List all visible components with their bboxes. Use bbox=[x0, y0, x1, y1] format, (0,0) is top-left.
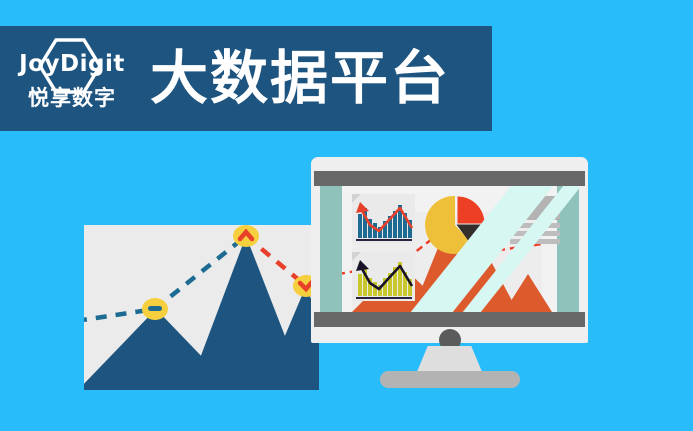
data-point-marker bbox=[233, 225, 259, 247]
placeholder-line bbox=[510, 239, 560, 244]
data-point-marker bbox=[142, 298, 168, 320]
page-fold-icon bbox=[352, 194, 361, 203]
yellow-bar-chart-svg bbox=[352, 252, 415, 301]
pie-chart-widget[interactable] bbox=[424, 194, 486, 256]
logo-wordmark: JoyDigit bbox=[19, 53, 125, 76]
screen-side-band-left bbox=[320, 186, 342, 312]
monitor-top-bezel bbox=[314, 171, 585, 186]
page-title: 大数据平台 bbox=[150, 50, 450, 108]
monitor-stand-base bbox=[380, 371, 520, 388]
placeholder-line bbox=[510, 223, 560, 228]
logo-subtitle: 悦享数字 bbox=[28, 88, 116, 109]
panel-chart-svg bbox=[84, 225, 319, 390]
screen-side-band-right bbox=[557, 186, 579, 312]
header-banner: JoyDigit 悦享数字 大数据平台 bbox=[0, 26, 492, 131]
blue-bar-chart-svg bbox=[352, 194, 415, 243]
text-placeholder-widget[interactable] bbox=[510, 196, 560, 244]
placeholder-line bbox=[510, 231, 560, 236]
up-right-arrow-icon bbox=[356, 202, 369, 213]
brand-logo: JoyDigit 悦享数字 bbox=[16, 36, 128, 122]
bar-chart-card-yellow[interactable] bbox=[352, 252, 415, 301]
placeholder-block bbox=[510, 196, 560, 220]
desktop-monitor bbox=[311, 157, 588, 387]
monitor-stand-neck bbox=[417, 346, 483, 373]
page-fold-icon bbox=[352, 252, 361, 261]
up-left-arrow-icon bbox=[356, 260, 369, 271]
pie-slice-red bbox=[458, 197, 485, 224]
mountain-line-chart-panel bbox=[84, 225, 319, 390]
bar-chart-card-blue[interactable] bbox=[352, 194, 415, 243]
pie-chart-svg bbox=[424, 194, 486, 256]
illustration-canvas: JoyDigit 悦享数字 大数据平台 bbox=[0, 0, 693, 431]
monitor-screen bbox=[320, 186, 579, 312]
monitor-bottom-bezel bbox=[314, 312, 585, 327]
